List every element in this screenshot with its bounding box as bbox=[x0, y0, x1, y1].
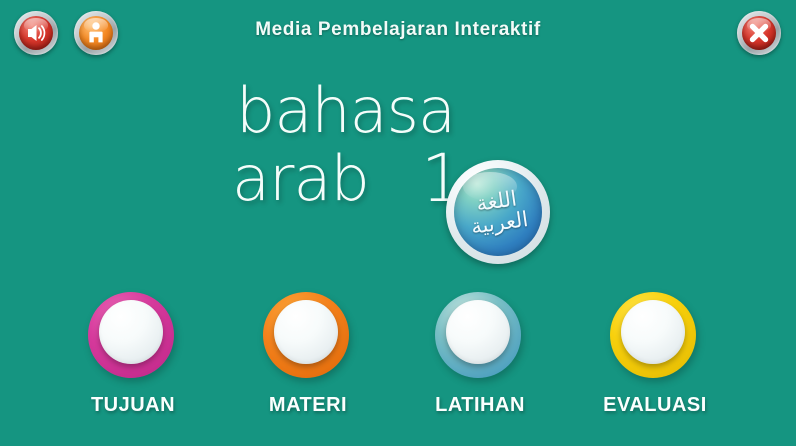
knob-evaluasi[interactable] bbox=[621, 300, 685, 364]
close-x-icon bbox=[742, 16, 776, 50]
main-menu: TUJUAN MATERI LATIHAN EVALUASI bbox=[0, 292, 796, 422]
menu-label-materi: MATERI bbox=[243, 394, 373, 417]
arabic-calligraphy-text: اللغة العربية bbox=[454, 168, 542, 256]
logo-block: bahasa arab 1 اللغة العربية bbox=[0, 78, 796, 258]
menu-item-latihan[interactable]: LATIHAN bbox=[415, 292, 545, 417]
menu-button-materi[interactable] bbox=[263, 292, 353, 382]
logo-text-bahasa: bahasa bbox=[236, 80, 455, 142]
menu-label-tujuan: TUJUAN bbox=[68, 394, 198, 417]
menu-button-evaluasi[interactable] bbox=[610, 292, 700, 382]
logo-wrap: bahasa arab 1 اللغة العربية bbox=[228, 78, 568, 258]
top-bar: Media Pembelajaran Interaktif bbox=[0, 0, 796, 66]
knob-latihan[interactable] bbox=[446, 300, 510, 364]
menu-label-latihan: LATIHAN bbox=[415, 394, 545, 417]
menu-item-evaluasi[interactable]: EVALUASI bbox=[590, 292, 720, 417]
menu-item-materi[interactable]: MATERI bbox=[243, 292, 373, 417]
menu-button-latihan[interactable] bbox=[435, 292, 525, 382]
globe-sphere: اللغة العربية bbox=[454, 168, 542, 256]
app-stage: Media Pembelajaran Interaktif bahasa ara… bbox=[0, 0, 796, 446]
close-button[interactable] bbox=[737, 11, 781, 55]
menu-label-evaluasi: EVALUASI bbox=[590, 394, 720, 417]
knob-tujuan[interactable] bbox=[99, 300, 163, 364]
logo-text-arab: arab bbox=[232, 148, 369, 210]
knob-materi[interactable] bbox=[274, 300, 338, 364]
page-title: Media Pembelajaran Interaktif bbox=[0, 19, 796, 41]
globe-emblem-icon: اللغة العربية bbox=[446, 160, 550, 264]
menu-button-tujuan[interactable] bbox=[88, 292, 178, 382]
menu-item-tujuan[interactable]: TUJUAN bbox=[68, 292, 198, 417]
